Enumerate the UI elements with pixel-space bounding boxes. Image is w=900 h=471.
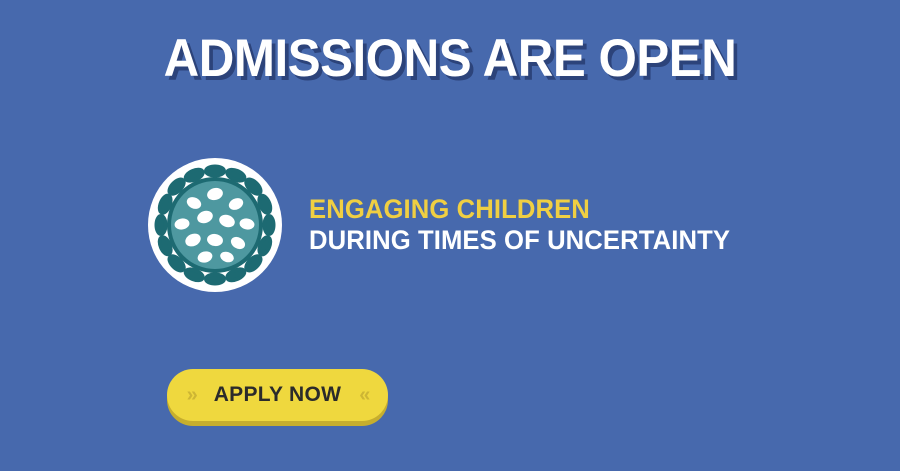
apply-now-button[interactable]: » APPLY NOW « [167, 369, 388, 421]
subheading-block: ENGAGING CHILDREN DURING TIMES OF UNCERT… [309, 194, 752, 256]
subheading-line-1: ENGAGING CHILDREN [309, 194, 730, 225]
chevron-right-double-icon: » [187, 385, 196, 405]
subheading-line-2: DURING TIMES OF UNCERTAINTY [309, 225, 730, 256]
coronavirus-icon [148, 158, 282, 292]
chevron-left-double-icon: « [359, 385, 368, 405]
coronavirus-badge [148, 158, 282, 292]
page-title: ADMISSIONS ARE OPEN [32, 29, 869, 89]
apply-now-label: APPLY NOW [214, 383, 342, 407]
admissions-banner: ADMISSIONS ARE OPEN [0, 0, 900, 471]
